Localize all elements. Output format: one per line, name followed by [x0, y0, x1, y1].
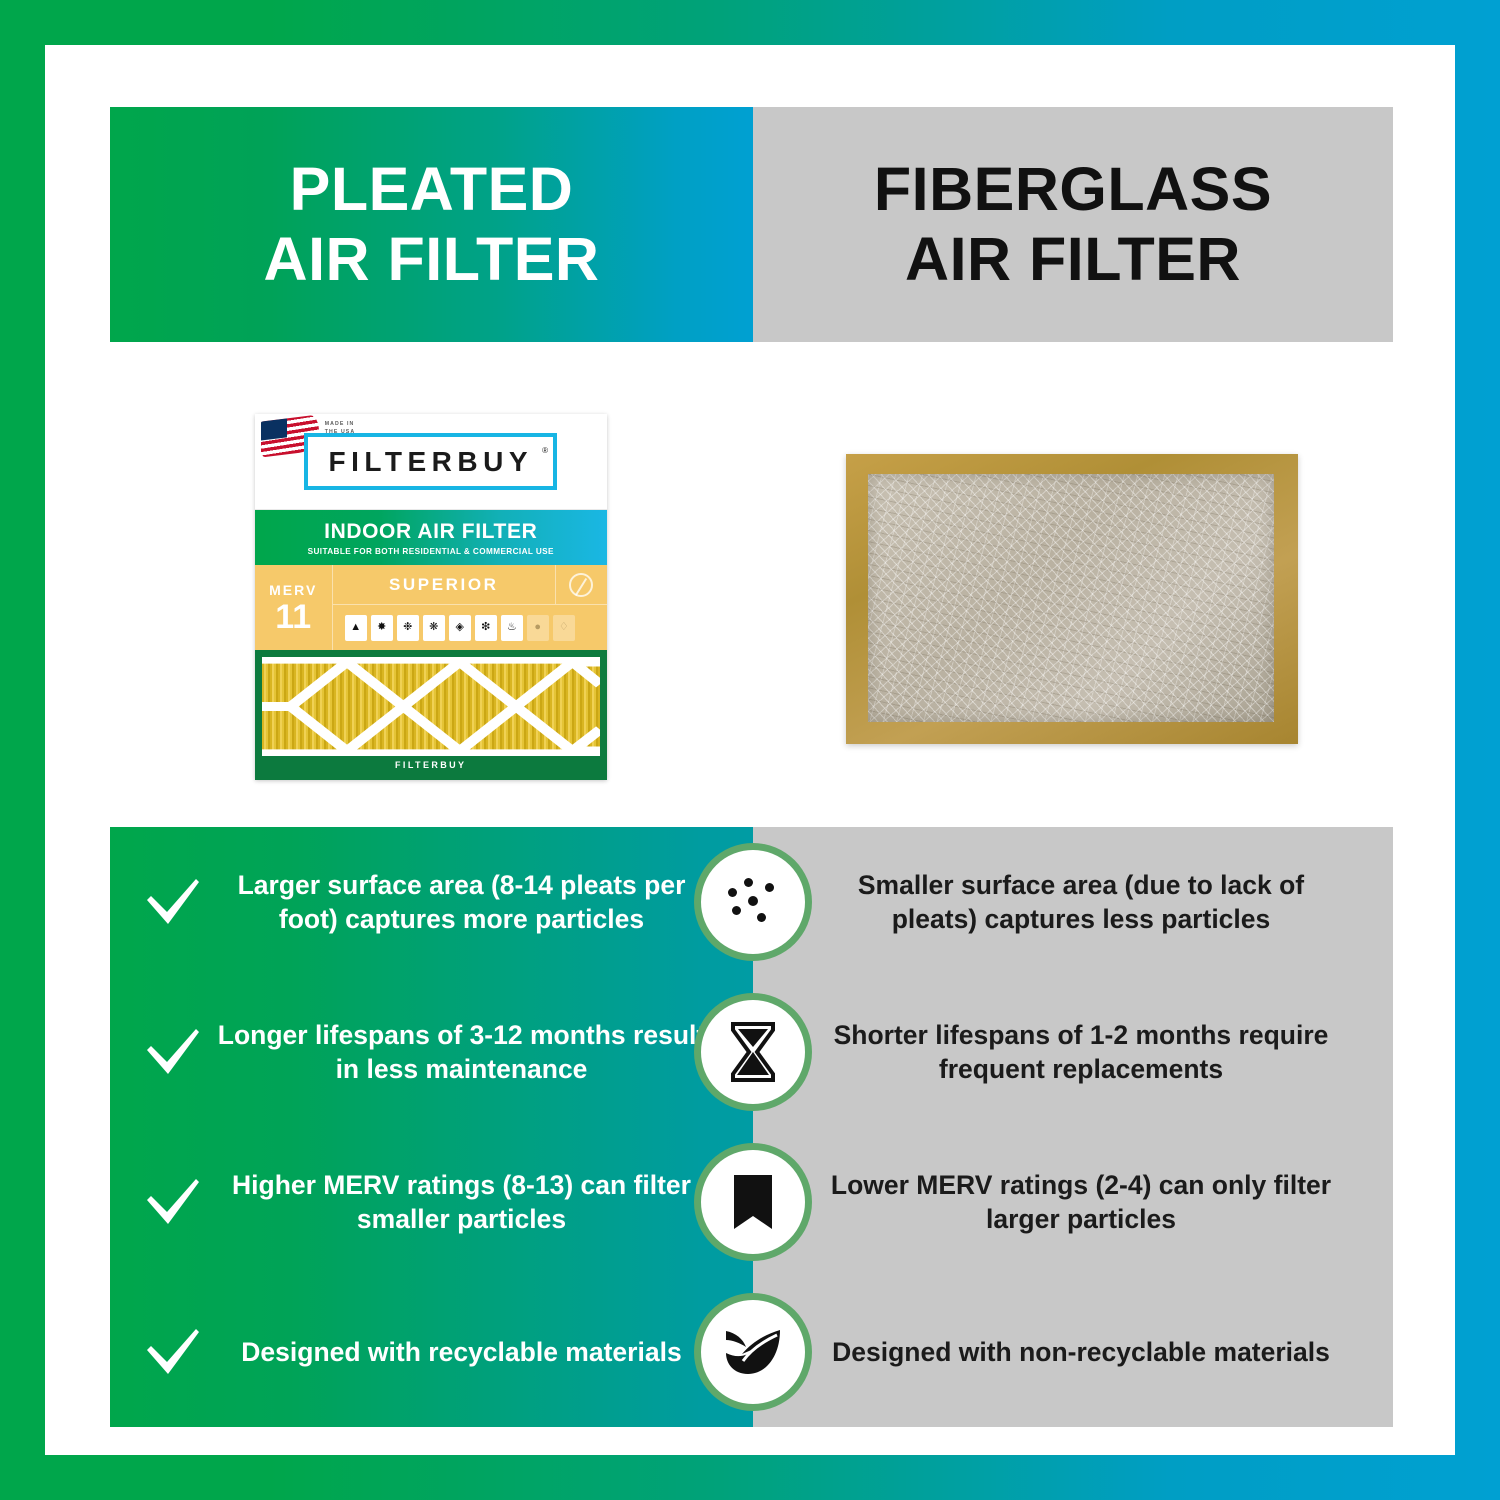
package-band-subtitle: SUITABLE FOR BOTH RESIDENTIAL & COMMERCI…: [308, 547, 554, 556]
package-grade-label: SUPERIOR: [333, 575, 555, 595]
pet-dander-icon: ❇: [475, 615, 497, 641]
bookmark-icon: [701, 1150, 805, 1254]
particles-icon: [701, 850, 805, 954]
odor-icon-disabled: ♢: [553, 615, 575, 641]
header-row: PLEATED AIR FILTER FIBERGLASS AIR FILTER: [110, 107, 1393, 342]
filterbuy-logo: FILTERBUY ®: [304, 433, 557, 490]
seal-icon: [569, 573, 593, 597]
trademark-symbol: ®: [542, 446, 548, 455]
pollen-icon: ❉: [397, 615, 419, 641]
comparison-row: Larger surface area (8-14 pleats per foo…: [110, 827, 1393, 977]
package-grade-column: SUPERIOR ▲ ✸ ❉ ❋ ◈ ❇: [333, 565, 607, 650]
checkmark-icon: [130, 1177, 216, 1227]
comparison-row: Longer lifespans of 3-12 months result i…: [110, 977, 1393, 1127]
certification-seal: [555, 565, 607, 604]
header-pleated: PLEATED AIR FILTER: [110, 107, 753, 342]
particles-dots: [722, 874, 784, 930]
package-filter-media: FILTERBUY: [255, 650, 607, 780]
comparison-left-text: Designed with recyclable materials: [216, 1335, 753, 1369]
checkmark-icon: [130, 1027, 216, 1077]
comparison-row-left: Longer lifespans of 3-12 months result i…: [110, 1018, 753, 1087]
header-pleated-title: PLEATED AIR FILTER: [264, 155, 600, 294]
infographic-canvas: PLEATED AIR FILTER FIBERGLASS AIR FILTER…: [45, 45, 1455, 1455]
header-fiberglass-title: FIBERGLASS AIR FILTER: [874, 155, 1272, 294]
pleated-media-texture: [262, 657, 600, 756]
package-band-title: INDOOR AIR FILTER: [324, 520, 537, 544]
package-header: MADE IN THE USA FILTERBUY ®: [255, 414, 607, 510]
dust-icon: ▲: [345, 615, 367, 641]
header-fiberglass: FIBERGLASS AIR FILTER: [753, 107, 1393, 342]
package-feature-icons: ▲ ✸ ❉ ❋ ◈ ❇ ♨ ● ♢: [333, 605, 607, 650]
mold-icon: ❋: [423, 615, 445, 641]
comparison-rows: Larger surface area (8-14 pleats per foo…: [110, 827, 1393, 1427]
insect-icon: ✸: [371, 615, 393, 641]
product-cell-pleated: MADE IN THE USA FILTERBUY ® INDOOR AIR F…: [110, 342, 752, 782]
fiberglass-filter-image: [846, 454, 1298, 744]
package-merv-band: MERV 11 SUPERIOR ▲: [255, 565, 607, 650]
comparison-left-text: Larger surface area (8-14 pleats per foo…: [216, 868, 753, 937]
package-footer-brand: FILTERBUY: [262, 756, 600, 773]
comparison-right-text: Designed with non-recyclable materials: [753, 1335, 1393, 1369]
comparison-row-left: Larger surface area (8-14 pleats per foo…: [110, 868, 753, 937]
comparison-infographic: PLEATED AIR FILTER FIBERGLASS AIR FILTER…: [0, 0, 1500, 1500]
product-cell-fiberglass: [752, 342, 1394, 782]
merv-label: MERV: [269, 582, 317, 598]
comparison-left-text: Higher MERV ratings (8-13) can filter sm…: [216, 1168, 753, 1237]
bacteria-icon: ◈: [449, 615, 471, 641]
hourglass-icon: [701, 1000, 805, 1104]
package-grade-row: SUPERIOR: [333, 565, 607, 605]
pleated-filter-package: MADE IN THE USA FILTERBUY ® INDOOR AIR F…: [255, 414, 607, 780]
checkmark-icon: [130, 877, 216, 927]
filterbuy-logo-text: FILTERBUY: [328, 446, 533, 477]
leaf-icon: [701, 1300, 805, 1404]
comparison-row-left: Designed with recyclable materials: [110, 1327, 753, 1377]
product-image-row: MADE IN THE USA FILTERBUY ® INDOOR AIR F…: [110, 342, 1393, 782]
comparison-left-text: Longer lifespans of 3-12 months result i…: [216, 1018, 753, 1087]
comparison-right-text: Shorter lifespans of 1-2 months require …: [753, 1018, 1393, 1087]
comparison-row: Designed with recyclable materials Desig…: [110, 1277, 1393, 1427]
comparison-row: Higher MERV ratings (8-13) can filter sm…: [110, 1127, 1393, 1277]
smoke-icon: ♨: [501, 615, 523, 641]
diamond-support-grid: [262, 657, 600, 756]
package-indoor-band: INDOOR AIR FILTER SUITABLE FOR BOTH RESI…: [255, 510, 607, 565]
comparison-right-text: Smaller surface area (due to lack of ple…: [753, 868, 1393, 937]
comparison-table: Larger surface area (8-14 pleats per foo…: [110, 827, 1393, 1427]
virus-icon-disabled: ●: [527, 615, 549, 641]
comparison-right-text: Lower MERV ratings (2-4) can only filter…: [753, 1168, 1393, 1237]
fiberglass-mesh-texture: [868, 474, 1274, 722]
merv-block: MERV 11: [255, 565, 333, 650]
merv-value: 11: [275, 600, 311, 634]
comparison-row-left: Higher MERV ratings (8-13) can filter sm…: [110, 1168, 753, 1237]
checkmark-icon: [130, 1327, 216, 1377]
